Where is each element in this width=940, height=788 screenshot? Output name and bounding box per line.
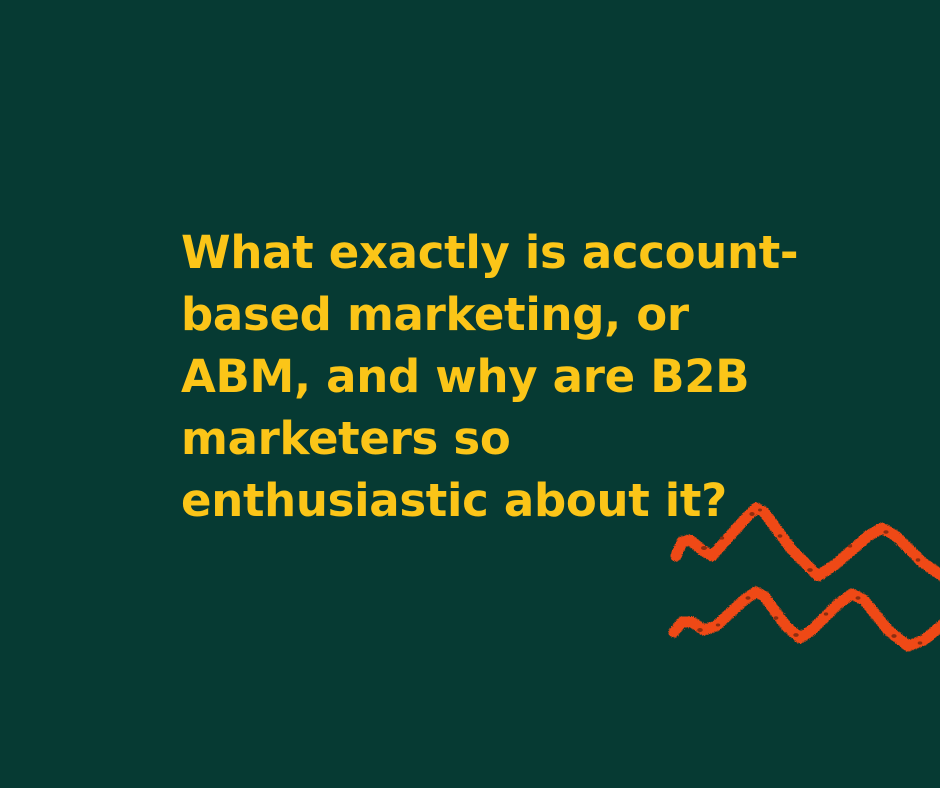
page-title: What exactly is account- based marketing… <box>181 222 781 532</box>
headline-line-2: based marketing, or <box>181 284 781 346</box>
headline-line-4: marketers so <box>181 408 781 470</box>
zigzag-stroke-lower <box>674 592 940 646</box>
headline-line-3: ABM, and why are B2B <box>181 346 781 408</box>
poster-canvas: What exactly is account- based marketing… <box>0 0 940 788</box>
headline-line-5: enthusiastic about it? <box>181 470 781 532</box>
headline-line-1: What exactly is account- <box>181 222 781 284</box>
